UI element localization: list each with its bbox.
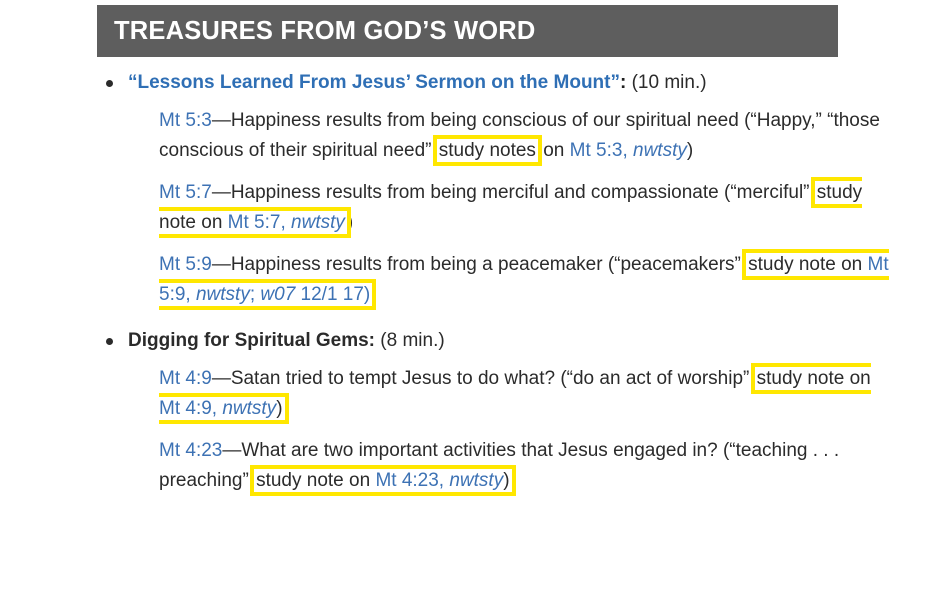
page-root: TREASURES FROM GOD’S WORD “Lessons Learn… (0, 0, 936, 593)
paragraph-tail: ) (503, 470, 509, 491)
scripture-link-mt-4-23[interactable]: Mt 4:23 (159, 440, 222, 461)
heading-duration-8min: (8 min.) (375, 330, 445, 351)
paragraph-mt-5-7: Mt 5:7—Happiness results from being merc… (128, 178, 897, 238)
digging-gems-paragraphs: Mt 4:9—Satan tried to tempt Jesus to do … (128, 364, 897, 496)
section-header-bar: TREASURES FROM GOD’S WORD (97, 5, 838, 57)
scripture-link-mt-4-9-ref[interactable]: Mt 4:9, (159, 398, 222, 419)
scripture-link-mt-5-7-ref[interactable]: Mt 5:7, (228, 212, 291, 233)
publication-issue-w07[interactable]: 12/1 17) (295, 284, 370, 305)
paragraph-tail: ) (347, 212, 353, 233)
scripture-link-mt-5-3-ref[interactable]: Mt 5:3, (570, 140, 633, 161)
heading-close-quote: ” (610, 72, 620, 93)
highlight-text-study-note[interactable]: study note on (748, 254, 867, 275)
highlight-text-study-note[interactable]: study note on (757, 368, 871, 389)
article-content: “Lessons Learned From Jesus’ Sermon on t… (97, 70, 897, 500)
paragraph-text-mt-5-7: Happiness results from being merciful an… (231, 182, 815, 203)
heading-duration-10min: (10 min.) (626, 72, 706, 93)
highlight-box-study-notes: study notes (437, 139, 538, 162)
publication-link-w07[interactable]: w07 (260, 284, 295, 305)
bullet-heading-treasures-talk: “Lessons Learned From Jesus’ Sermon on t… (128, 70, 897, 96)
em-dash: — (212, 368, 231, 389)
bullet-item-digging-gems: Digging for Spiritual Gems: (8 min.) Mt … (97, 328, 897, 496)
bullet-group-spacer (97, 314, 897, 328)
highlight-text-study-note[interactable]: study note on (256, 470, 375, 491)
text-on-connector: on (538, 140, 570, 161)
paragraph-tail: ) (276, 398, 282, 419)
paragraph-mt-4-23: Mt 4:23—What are two important activitie… (128, 436, 897, 496)
em-dash: — (212, 110, 231, 131)
heading-text-digging-gems: Digging for Spiritual Gems: (128, 330, 375, 351)
paragraph-tail: ) (687, 140, 693, 161)
scripture-link-mt-4-9[interactable]: Mt 4:9 (159, 368, 212, 389)
bullet-heading-digging-gems: Digging for Spiritual Gems: (8 min.) (128, 328, 897, 354)
heading-open-quote: “ (128, 72, 138, 93)
paragraph-text-mt-4-9: Satan tried to tempt Jesus to do what? (… (231, 368, 755, 389)
publication-link-nwtsty[interactable]: nwtsty (196, 284, 250, 305)
scripture-link-mt-4-23-ref[interactable]: Mt 4:23, (375, 470, 449, 491)
em-dash: — (212, 182, 231, 203)
highlight-text-study-notes[interactable]: study notes (439, 140, 536, 161)
paragraph-text-mt-5-9: Happiness results from being a peacemake… (231, 254, 746, 275)
scripture-link-mt-5-3[interactable]: Mt 5:3 (159, 110, 212, 131)
bullet-list: “Lessons Learned From Jesus’ Sermon on t… (97, 70, 897, 496)
treasures-paragraphs: Mt 5:3—Happiness results from being cons… (128, 106, 897, 310)
publication-link-nwtsty[interactable]: nwtsty (633, 140, 687, 161)
bullet-item-treasures-talk: “Lessons Learned From Jesus’ Sermon on t… (97, 70, 897, 310)
em-dash: — (222, 440, 241, 461)
publication-link-nwtsty[interactable]: nwtsty (222, 398, 276, 419)
highlight-box-study-note-mt-4-23: study note on Mt 4:23, nwtsty) (254, 469, 511, 492)
em-dash: — (212, 254, 231, 275)
section-header-title: TREASURES FROM GOD’S WORD (97, 17, 536, 46)
paragraph-mt-5-3: Mt 5:3—Happiness results from being cons… (128, 106, 897, 166)
heading-link-lessons-learned[interactable]: Lessons Learned From Jesus’ Sermon on th… (138, 72, 611, 93)
scripture-link-mt-5-9[interactable]: Mt 5:9 (159, 254, 212, 275)
publication-link-nwtsty[interactable]: nwtsty (291, 212, 345, 233)
paragraph-mt-5-9: Mt 5:9—Happiness results from being a pe… (128, 250, 897, 310)
paragraph-mt-4-9: Mt 4:9—Satan tried to tempt Jesus to do … (128, 364, 897, 424)
semicolon-separator: ; (250, 284, 261, 305)
scripture-link-mt-5-7[interactable]: Mt 5:7 (159, 182, 212, 203)
publication-link-nwtsty[interactable]: nwtsty (449, 470, 503, 491)
